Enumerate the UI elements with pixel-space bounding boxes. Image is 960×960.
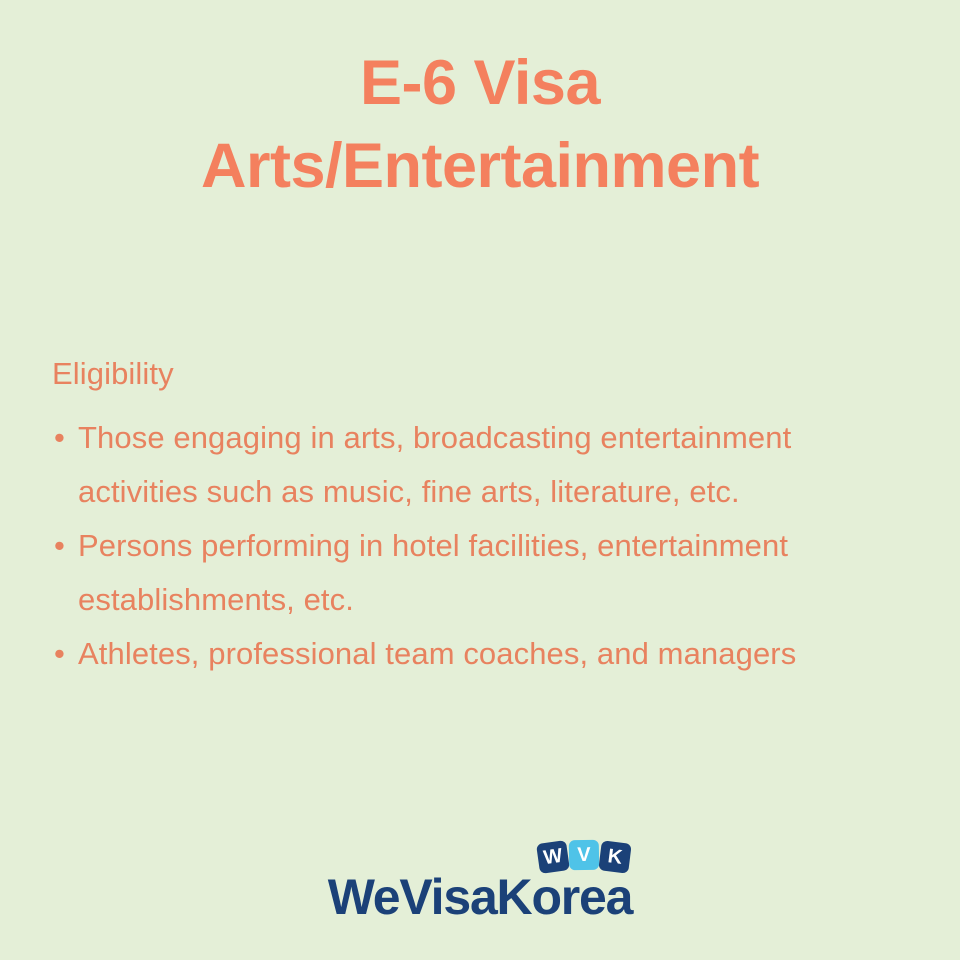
page-title: E-6 Visa Arts/Entertainment	[0, 52, 960, 198]
bullet-dot-icon: •	[54, 519, 65, 573]
list-item-text: Persons performing in hotel facilities, …	[78, 528, 788, 617]
title-line-2: Arts/Entertainment	[0, 135, 960, 198]
list-item: • Persons performing in hotel facilities…	[52, 519, 912, 627]
section-heading-eligibility: Eligibility	[52, 355, 912, 394]
list-item-text: Those engaging in arts, broadcasting ent…	[78, 420, 791, 509]
logo-badge-v-icon: V	[569, 840, 600, 871]
title-line-1: E-6 Visa	[0, 52, 960, 115]
list-item: • Those engaging in arts, broadcasting e…	[52, 411, 912, 519]
logo-inner: W V K WeVisaKorea	[328, 852, 633, 922]
eligibility-list: • Those engaging in arts, broadcasting e…	[52, 411, 912, 681]
list-item-text: Athletes, professional team coaches, and…	[78, 636, 796, 671]
logo-badge-group: W V K	[538, 840, 630, 872]
bullet-dot-icon: •	[54, 627, 65, 681]
infographic-card: E-6 Visa Arts/Entertainment Eligibility …	[0, 0, 960, 960]
logo-badge-w-icon: W	[536, 840, 570, 874]
list-item: • Athletes, professional team coaches, a…	[52, 627, 912, 681]
logo-wordmark: WeVisaKorea	[328, 872, 633, 922]
content-section: Eligibility • Those engaging in arts, br…	[52, 355, 912, 681]
logo-badge-k-icon: K	[599, 840, 632, 873]
brand-logo: W V K WeVisaKorea	[0, 852, 960, 922]
bullet-dot-icon: •	[54, 411, 65, 465]
